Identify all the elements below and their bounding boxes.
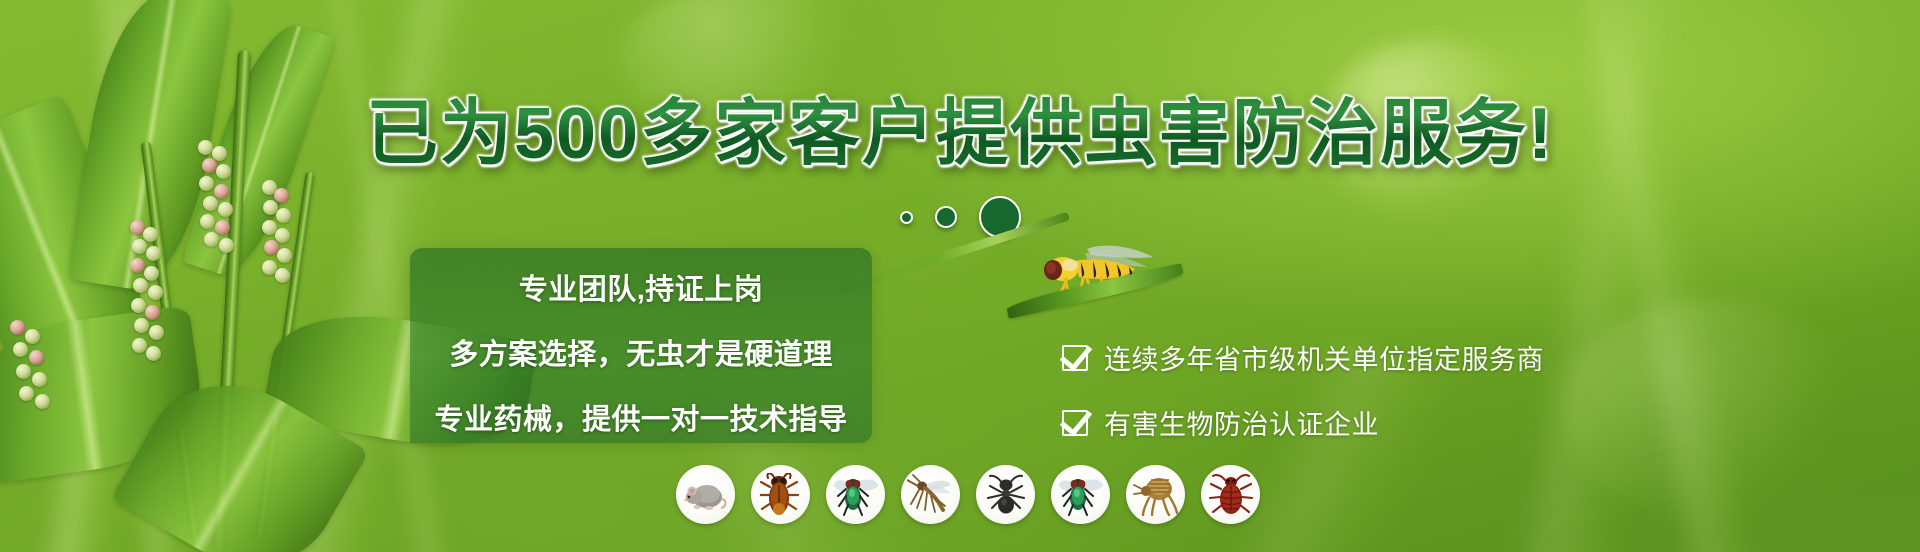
pest-icon-cockroach[interactable] [751, 465, 810, 524]
credentials-checklist: 连续多年省市级机关单位指定服务商 有害生物防治认证企业 [1062, 338, 1544, 468]
pest-icon-mosquito[interactable] [901, 465, 960, 524]
checklist-item: 连续多年省市级机关单位指定服务商 [1062, 338, 1544, 377]
selling-points-panel: 专业团队,持证上岗 多方案选择，无虫才是硬道理 专业药械，提供一对一技术指导 [410, 248, 872, 443]
greenfly-icon [1057, 474, 1105, 516]
cockroach-icon [760, 473, 802, 517]
mouse-icon [683, 477, 729, 513]
checklist-item: 有害生物防治认证企业 [1062, 403, 1544, 442]
checklist-item-label: 连续多年省市级机关单位指定服务商 [1104, 338, 1544, 377]
pest-type-icon-strip [676, 465, 1260, 524]
banner-headline: 已为500多家客户提供虫害防治服务! [0, 74, 1920, 179]
bokeh-highlight [1560, 300, 1860, 520]
check-square-icon [1062, 345, 1088, 371]
pest-icon-flea[interactable] [1126, 465, 1185, 524]
pest-icon-ant[interactable] [976, 465, 1035, 524]
decor-dot-small [900, 211, 913, 224]
pest-control-hero-banner: 已为500多家客户提供虫害防治服务! [0, 0, 1920, 552]
panel-line-1: 专业团队,持证上岗 [410, 248, 872, 308]
housefly-icon [832, 474, 880, 516]
pest-icon-bedbug[interactable] [1201, 465, 1260, 524]
panel-line-2: 多方案选择，无虫才是硬道理 [410, 308, 872, 373]
bedbug-icon [1209, 473, 1253, 517]
check-square-icon [1062, 410, 1088, 436]
panel-line-3: 专业药械，提供一对一技术指导 [410, 373, 872, 438]
decorative-dots [0, 196, 1920, 238]
ant-icon [984, 474, 1028, 516]
pest-icon-mouse[interactable] [676, 465, 735, 524]
flea-icon [1133, 474, 1179, 516]
hoverfly-photo [1035, 243, 1165, 305]
pest-icon-greenfly[interactable] [1051, 465, 1110, 524]
mosquito-icon [907, 474, 955, 516]
checklist-item-label: 有害生物防治认证企业 [1104, 403, 1379, 442]
pest-icon-housefly[interactable] [826, 465, 885, 524]
decor-dot-medium [935, 206, 957, 228]
